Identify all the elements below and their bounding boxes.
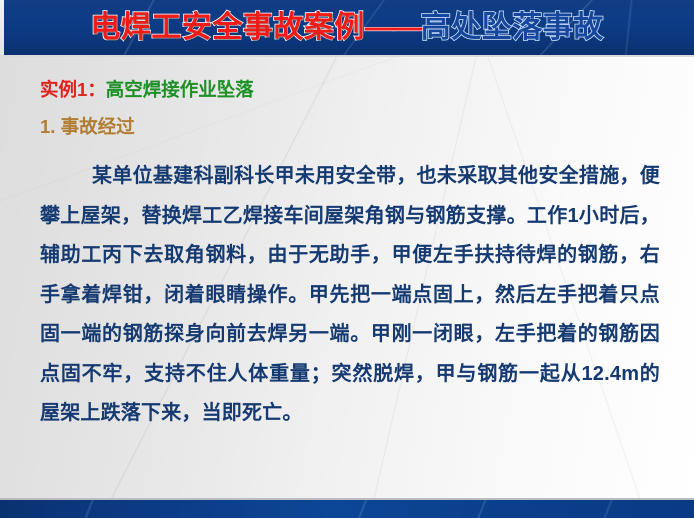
slide-title-dash: —— (365, 11, 421, 44)
slide-body: 实例1：高空焊接作业坠落 1. 事故经过 某单位基建科副科长甲未用安全带，也未采… (0, 57, 694, 500)
slide-title-bar: 电焊工安全事故案例——高处坠落事故 (0, 0, 694, 57)
case-subtitle: 实例1：高空焊接作业坠落 (40, 78, 254, 102)
slide-title-primary: 电焊工安全事故案例 (90, 11, 365, 44)
slide-title-secondary: 高处坠落事故 (421, 11, 604, 44)
slide-footer-bar (0, 500, 694, 518)
case-body-paragraph: 某单位基建科副科长甲未用安全带，也未采取其他安全措施，便攀上屋架，替换焊工乙焊接… (40, 157, 660, 434)
section-heading: 1. 事故经过 (40, 115, 135, 139)
slide-canvas: 电焊工安全事故案例——高处坠落事故 实例1：高空焊接作业坠落 1. 事故经过 某… (0, 0, 694, 518)
case-subtitle-label: 实例1： (40, 79, 106, 100)
slide-title: 电焊工安全事故案例——高处坠落事故 (0, 8, 694, 48)
case-subtitle-text: 高空焊接作业坠落 (106, 79, 254, 100)
